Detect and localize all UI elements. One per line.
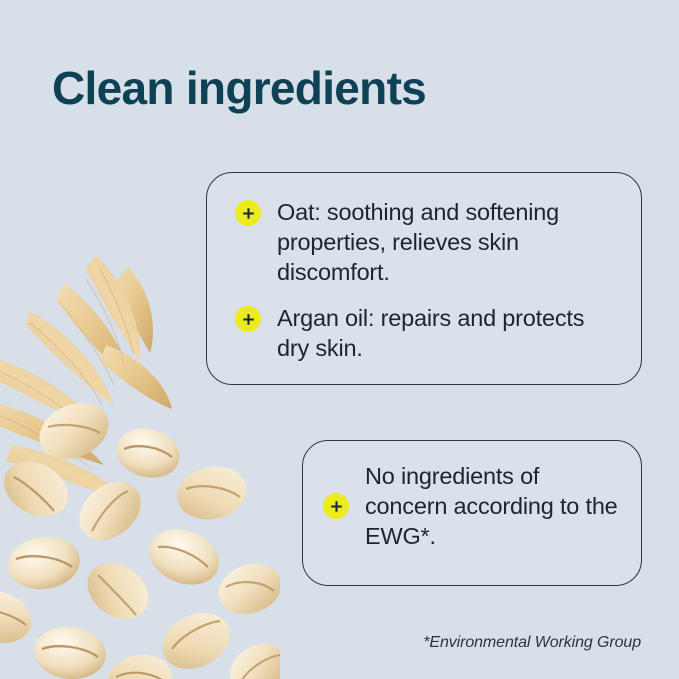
ingredients-bullet-list: Oat: soothing and softening properties, …: [235, 197, 619, 363]
plus-icon: [235, 200, 261, 226]
clean-ingredients-promo: Clean ingredients Oat: soothing and soft…: [0, 0, 679, 679]
ewg-card: No ingredients of concern according to t…: [302, 440, 642, 586]
ingredients-card: Oat: soothing and softening properties, …: [206, 172, 642, 385]
list-item: No ingredients of concern according to t…: [323, 461, 623, 551]
plus-icon: [235, 306, 261, 332]
list-item-label: Oat: soothing and softening properties, …: [277, 197, 619, 287]
footnote: *Environmental Working Group: [423, 634, 641, 652]
list-item-label: Argan oil: repairs and protects dry skin…: [277, 303, 619, 363]
list-item-label: No ingredients of concern according to t…: [365, 461, 623, 551]
plus-icon: [323, 493, 349, 519]
list-item: Argan oil: repairs and protects dry skin…: [235, 303, 619, 363]
list-item: Oat: soothing and softening properties, …: [235, 197, 619, 287]
page-title: Clean ingredients: [52, 61, 426, 115]
ewg-bullet-list: No ingredients of concern according to t…: [323, 461, 623, 551]
